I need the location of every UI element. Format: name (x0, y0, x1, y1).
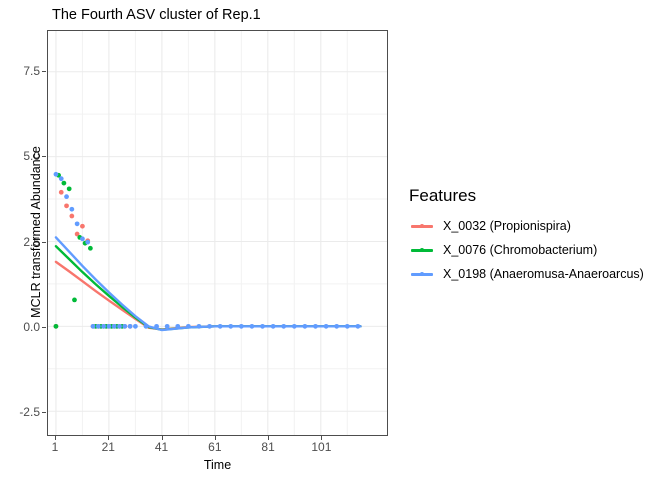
data-point (186, 324, 191, 329)
series-line (56, 246, 361, 330)
data-point (281, 324, 286, 329)
data-point (334, 324, 339, 329)
legend-key-point (420, 248, 424, 252)
x-axis-title: Time (47, 458, 388, 472)
legend-key-swatch (409, 217, 435, 235)
x-tick-label: 101 (311, 441, 331, 453)
data-point (59, 190, 64, 195)
legend-item[interactable]: X_0198 (Anaeromusa-Anaeroarcus) (409, 263, 667, 285)
x-tick-mark (268, 436, 269, 440)
y-tick-label: 7.5 (23, 65, 40, 77)
legend-key-swatch (409, 241, 435, 259)
x-tick-label: 41 (155, 441, 168, 453)
data-point (324, 324, 329, 329)
y-tick-mark (42, 156, 46, 157)
data-point (303, 324, 308, 329)
x-tick-mark (215, 436, 216, 440)
x-tick-mark (321, 436, 322, 440)
data-point (69, 207, 74, 212)
x-tick-label: 21 (102, 441, 115, 453)
series-group (54, 190, 361, 330)
y-tick-mark (42, 327, 46, 328)
data-point (54, 172, 59, 177)
x-tick-label: 1 (52, 441, 59, 453)
x-tick-mark (108, 436, 109, 440)
x-tick-label: 61 (208, 441, 221, 453)
data-point (64, 203, 69, 208)
data-point (64, 194, 69, 199)
data-point (96, 324, 101, 329)
legend-item-label: X_0198 (Anaeromusa-Anaeroarcus) (443, 267, 644, 281)
data-point (271, 324, 276, 329)
data-point (88, 246, 93, 251)
chart-root: The Fourth ASV cluster of Rep.1 -2.50.02… (0, 0, 672, 480)
series-group (54, 173, 361, 330)
y-tick-mark (42, 412, 46, 413)
legend-item[interactable]: X_0076 (Chromobacterium) (409, 239, 667, 261)
data-point (69, 214, 74, 219)
data-point (54, 324, 59, 329)
y-tick-label: -2.5 (19, 406, 40, 418)
series-line (56, 237, 361, 330)
data-point (80, 236, 85, 241)
plot-series-layer (48, 31, 387, 435)
data-point (260, 324, 265, 329)
legend-item-label: X_0032 (Propionispira) (443, 219, 571, 233)
data-point (128, 324, 133, 329)
data-point (85, 240, 90, 245)
data-point (355, 324, 360, 329)
data-point (345, 324, 350, 329)
series-line (56, 262, 361, 330)
data-point (218, 324, 223, 329)
x-tick-mark (162, 436, 163, 440)
data-point (91, 324, 96, 329)
data-point (107, 324, 112, 329)
data-point (67, 186, 72, 191)
data-point (133, 324, 138, 329)
data-point (313, 324, 318, 329)
data-point (165, 324, 170, 329)
data-point (117, 324, 122, 329)
data-point (80, 224, 85, 229)
data-point (122, 324, 127, 329)
legend-item-label: X_0076 (Chromobacterium) (443, 243, 597, 257)
y-tick-mark (42, 242, 46, 243)
data-point (75, 221, 80, 226)
data-point (175, 324, 180, 329)
x-tick-label: 81 (261, 441, 274, 453)
legend-key-point (420, 272, 424, 276)
data-point (62, 181, 67, 186)
legend-key-swatch (409, 265, 435, 283)
data-point (207, 324, 212, 329)
data-point (101, 324, 106, 329)
legend-items: X_0032 (Propionispira)X_0076 (Chromobact… (409, 215, 667, 285)
legend-key-point (420, 224, 424, 228)
y-tick-mark (42, 71, 46, 72)
data-point (239, 324, 244, 329)
data-point (154, 324, 159, 329)
data-point (59, 176, 64, 181)
y-axis-title: MCLR transformed Abundance (29, 102, 43, 362)
data-point (197, 324, 202, 329)
legend: Features X_0032 (Propionispira)X_0076 (C… (409, 186, 667, 287)
page-title: The Fourth ASV cluster of Rep.1 (52, 7, 261, 24)
data-point (72, 297, 77, 302)
plot-panel (47, 30, 388, 436)
data-point (144, 324, 149, 329)
data-point (112, 324, 117, 329)
legend-title: Features (409, 186, 667, 206)
x-tick-mark (55, 436, 56, 440)
data-point (250, 324, 255, 329)
data-point (228, 324, 233, 329)
legend-item[interactable]: X_0032 (Propionispira) (409, 215, 667, 237)
series-group (54, 172, 361, 330)
data-point (292, 324, 297, 329)
